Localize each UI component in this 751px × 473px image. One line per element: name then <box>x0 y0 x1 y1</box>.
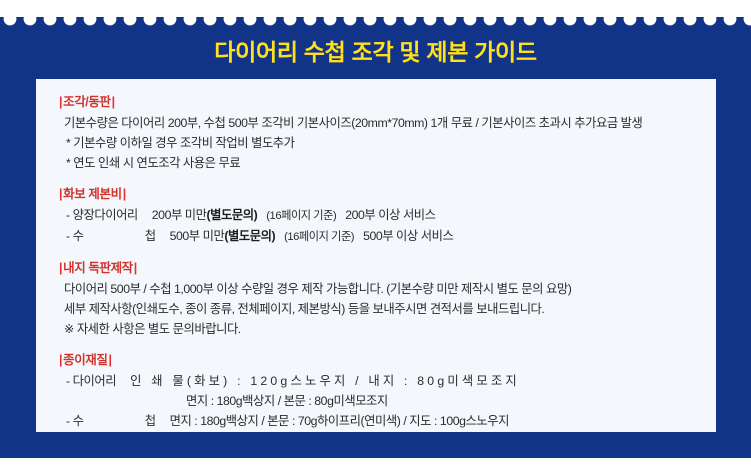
top-white-margin <box>0 0 751 17</box>
section-line: ※ 자세한 사항은 별도 문의바랍니다. <box>64 319 696 339</box>
poster-root: 다이어리 수첩 조각 및 제본 가이드 |조각/동판| 기본수량은 다이어리 2… <box>0 0 751 473</box>
bottom-white-margin <box>0 458 751 473</box>
line-part: 첩 <box>145 229 156 243</box>
line-part: 200부 미만 <box>152 208 207 222</box>
line-part: - 수 <box>66 229 83 243</box>
line-part: 첩 <box>145 414 156 428</box>
line-part: - 수 <box>66 414 83 428</box>
line-part-small: (16페이지 기준) <box>284 231 354 243</box>
scalloped-edge-decoration <box>0 17 751 30</box>
section-heading-binding-cost: |화보 제본비| <box>58 185 696 204</box>
line-part: - 양장다이어리 <box>66 208 138 222</box>
section-line: 세부 제작사항(인쇄도수, 종이 종류, 전체페이지, 제본방식) 등을 보내주… <box>64 299 696 319</box>
section-engraving: |조각/동판| 기본수량은 다이어리 200부, 수첩 500부 조각비 기본사… <box>56 93 696 173</box>
section-line: - 수 첩500부 미만(별도문의)(16페이지 기준)500부 이상 서비스 <box>66 226 696 247</box>
heading-bar-right: | <box>133 261 138 275</box>
section-line: * 연도 인쇄 시 연도조각 사용은 무료 <box>66 153 696 173</box>
section-heading-engraving: |조각/동판| <box>58 93 696 112</box>
line-part: 200부 이상 서비스 <box>345 208 435 222</box>
heading-bar-right: | <box>122 187 127 201</box>
line-part: - 다이어리 <box>66 374 116 388</box>
section-line: - 다이어리인 쇄 물(화보) : 120g스노우지 / 내지 : 80g미색모… <box>66 371 696 391</box>
section-line: 기본수량은 다이어리 200부, 수첩 500부 조각비 기본사이즈(20mm*… <box>64 113 696 133</box>
line-part: 500부 이상 서비스 <box>363 229 453 243</box>
page-title: 다이어리 수첩 조각 및 제본 가이드 <box>0 37 751 67</box>
section-line: - 양장다이어리200부 미만(별도문의)(16페이지 기준)200부 이상 서… <box>66 205 696 226</box>
line-part: 면지 : 180g백상지 / 본문 : 70g하이프리(연미색) / 지도 : … <box>170 414 509 428</box>
section-heading-text: 조각/동판 <box>63 95 110 109</box>
section-heading-paper-material: |종이재질| <box>58 351 696 370</box>
line-part-emphasis: (별도문의) <box>224 229 275 243</box>
heading-bar-right: | <box>108 353 113 367</box>
section-binding-cost: |화보 제본비| - 양장다이어리200부 미만(별도문의)(16페이지 기준)… <box>56 185 696 247</box>
section-line: 면지 : 180g백상지 / 본문 : 80g미색모조지 <box>186 391 696 411</box>
section-line: 다이어리 500부 / 수첩 1,000부 이상 수량일 경우 제작 가능합니다… <box>64 279 696 299</box>
content-card: |조각/동판| 기본수량은 다이어리 200부, 수첩 500부 조각비 기본사… <box>36 79 716 432</box>
heading-bar-right: | <box>111 95 116 109</box>
section-heading-text: 종이재질 <box>63 353 107 367</box>
section-line: * 기본수량 이하일 경우 조각비 작업비 별도추가 <box>66 133 696 153</box>
section-line: - 수 첩면지 : 180g백상지 / 본문 : 70g하이프리(연미색) / … <box>66 411 696 431</box>
section-inner-page-production: |내지 독판제작| 다이어리 500부 / 수첩 1,000부 이상 수량일 경… <box>56 259 696 339</box>
section-heading-text: 화보 제본비 <box>63 187 122 201</box>
section-heading-inner-page: |내지 독판제작| <box>58 259 696 278</box>
section-paper-material: |종이재질| - 다이어리인 쇄 물(화보) : 120g스노우지 / 내지 :… <box>56 351 696 431</box>
line-part-small: (16페이지 기준) <box>266 210 336 222</box>
section-heading-text: 내지 독판제작 <box>63 261 133 275</box>
line-part: 500부 미만 <box>170 229 225 243</box>
line-part: 인 쇄 물(화보) : 120g스노우지 / 내지 : 80g미색모조지 <box>130 374 520 388</box>
line-part-emphasis: (별도문의) <box>207 208 258 222</box>
